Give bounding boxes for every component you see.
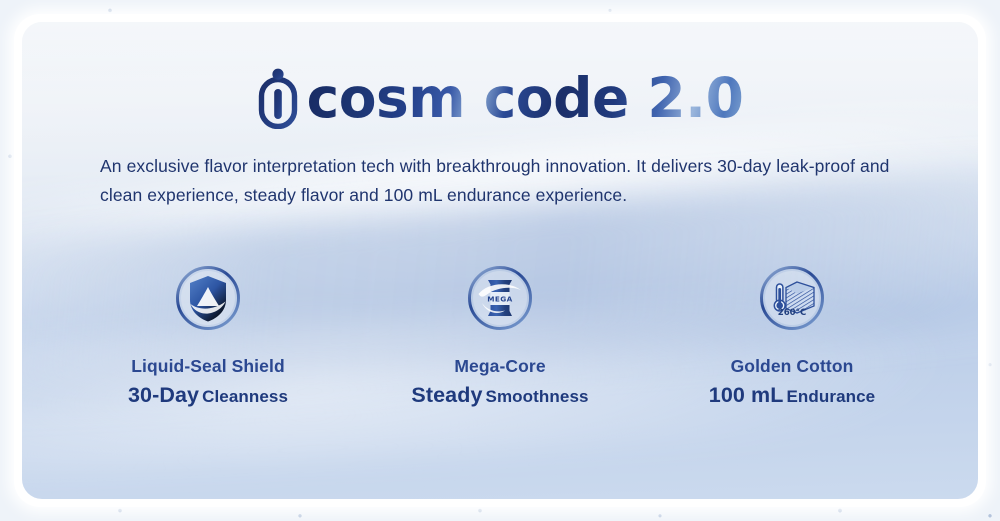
brand-title: cosm code 2.0: [257, 66, 744, 130]
feature-item-liquid-seal-shield: Liquid-Seal Shield 30-DayCleanness: [62, 263, 354, 408]
temperature-label: 260°C: [778, 308, 807, 318]
feature-highlight: Steady: [411, 383, 482, 407]
shield-droplet-icon: [173, 263, 243, 333]
feature-item-golden-cotton: 260°C Golden Cotton 100 mLEndurance: [646, 263, 938, 408]
feature-list: Liquid-Seal Shield 30-DayCleanness: [22, 263, 978, 408]
mega-core-canister-icon: MEGA: [465, 263, 535, 333]
feature-card: cosm code 2.0 An exclusive flavor interp…: [22, 22, 978, 499]
svg-text:MEGA: MEGA: [487, 294, 512, 303]
feature-title: Mega-Core: [454, 356, 545, 377]
thermometer-cotton-icon: 260°C: [757, 263, 827, 333]
feature-suffix: Smoothness: [486, 387, 589, 406]
i-capsule-logo-icon: [257, 67, 299, 129]
promo-banner: cosm code 2.0 An exclusive flavor interp…: [0, 0, 1000, 521]
feature-highlight: 30-Day: [128, 383, 199, 407]
feature-subtitle: 100 mLEndurance: [709, 383, 875, 408]
feature-highlight: 100 mL: [709, 383, 784, 407]
description-text: An exclusive flavor interpretation tech …: [100, 152, 900, 209]
feature-suffix: Endurance: [786, 387, 875, 406]
feature-item-mega-core: MEGA Mega-Core SteadySmoothness: [354, 263, 646, 408]
feature-subtitle: 30-DayCleanness: [128, 383, 288, 408]
feature-subtitle: SteadySmoothness: [411, 383, 588, 408]
feature-title: Golden Cotton: [731, 356, 854, 377]
feature-title: Liquid-Seal Shield: [131, 356, 284, 377]
brand-title-text: cosm code 2.0: [307, 71, 744, 126]
feature-suffix: Cleanness: [202, 387, 288, 406]
card-content: cosm code 2.0 An exclusive flavor interp…: [22, 22, 978, 499]
